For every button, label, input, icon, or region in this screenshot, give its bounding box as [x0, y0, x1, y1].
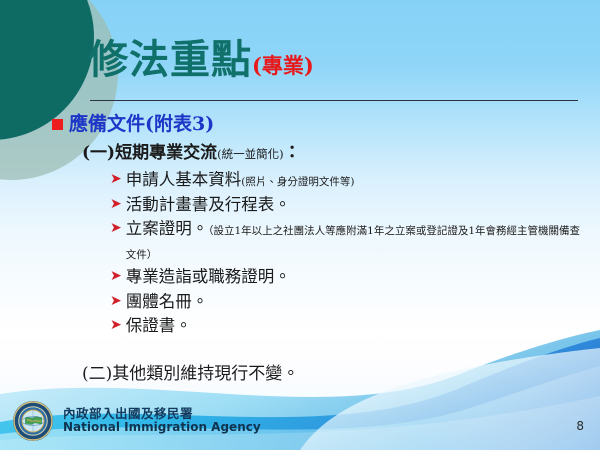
item-note: (照片、身分證明文件等) [241, 176, 354, 188]
arrow-bullet-icon: ➤ [110, 265, 122, 287]
list-item: ➤ 活動計畫書及行程表。 [110, 193, 588, 216]
list-item: ➤ 保證書。 [110, 314, 588, 337]
list-item: ➤ 團體名冊。 [110, 290, 588, 313]
section-one-title: (一)短期專業交流 [82, 143, 217, 163]
arrow-bullet-icon: ➤ [110, 290, 122, 312]
title-main-text: 修法重點 [88, 36, 252, 83]
section-one-note: (統一並簡化) [217, 147, 283, 161]
org-name-chinese: 內政部入出國及移民署 [63, 407, 261, 421]
item-text: 活動計畫書及行程表。 [126, 195, 291, 214]
arrow-bullet-icon: ➤ [110, 168, 122, 190]
arrow-bullet-icon: ➤ [110, 217, 122, 239]
title-sub-text: (專業) [252, 53, 314, 78]
slide-canvas: 修法重點(專業) 應備文件(附表3) (一)短期專業交流(統一並簡化)： ➤ 申… [0, 0, 600, 450]
item-text: 立案證明。 [126, 219, 209, 238]
item-note-wrap: 文件） [126, 249, 158, 261]
heading-text: 應備文件(附表3) [69, 112, 214, 138]
item-note: （設立1年以上之社團法人等應附滿1年之立案或登記證及1年會務經主管機關備查 [208, 225, 580, 237]
arrow-bullet-icon: ➤ [110, 314, 122, 336]
section-two-label: (二)其他類別維持現行不變。 [82, 363, 588, 387]
page-number: 8 [576, 419, 584, 433]
item-text: 團體名冊。 [126, 292, 209, 311]
arrow-bullet-icon: ➤ [110, 193, 122, 215]
item-text: 申請人基本資料 [126, 170, 242, 189]
list-item: ➤ 申請人基本資料(照片、身分證明文件等) [110, 168, 588, 191]
item-text: 保證書。 [126, 316, 192, 335]
heading-row: 應備文件(附表3) [52, 112, 588, 138]
national-immigration-agency-seal-icon [12, 400, 54, 442]
list-item: ➤ 立案證明。（設立1年以上之社團法人等應附滿1年之立案或登記證及1年會務經主管… [110, 217, 588, 264]
slide-body: 應備文件(附表3) (一)短期專業交流(統一並簡化)： ➤ 申請人基本資料(照片… [52, 112, 588, 387]
footer-branding: 內政部入出國及移民署 National Immigration Agency [12, 400, 261, 442]
item-text: 專業造詣或職務證明。 [126, 267, 291, 286]
section-one-label: (一)短期專業交流(統一並簡化)： [82, 142, 588, 166]
slide-title: 修法重點(專業) [88, 40, 580, 80]
list-item: ➤ 專業造詣或職務證明。 [110, 265, 588, 288]
title-divider [90, 100, 578, 101]
org-name-english: National Immigration Agency [63, 421, 261, 434]
red-square-bullet-icon [52, 119, 63, 130]
document-requirements-list: ➤ 申請人基本資料(照片、身分證明文件等) ➤ 活動計畫書及行程表。 ➤ 立案證… [110, 168, 588, 337]
section-one-colon: ： [284, 143, 301, 163]
